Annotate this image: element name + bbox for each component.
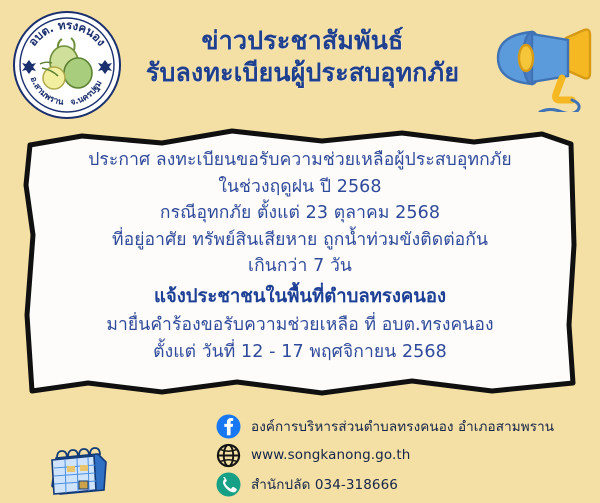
contact-label-facebook: องค์การบริหารส่วนตำบลทรงคนอง อำเภอสามพรา… (251, 415, 554, 437)
facebook-icon[interactable] (216, 414, 241, 439)
globe-icon[interactable] (216, 443, 241, 468)
contact-row-website[interactable]: www.songkanong.go.th (216, 441, 596, 469)
announcement-line: ที่อยู่อาศัย ทรัพย์สินเสียหาย ถูกน้ำท่วม… (50, 227, 550, 254)
contact-label-website: www.songkanong.go.th (251, 447, 410, 463)
announcement-line-highlight: แจ้งประชาชนในพื้นที่ตำบลทรงคนอง (50, 280, 550, 312)
megaphone-icon (470, 4, 596, 112)
contact-list: องค์การบริหารส่วนตำบลทรงคนอง อำเภอสามพรา… (216, 412, 596, 499)
organization-logo: อบต. ทรงคนอง อ.สามพราน จ.นครปฐม (12, 10, 122, 120)
announcement-poster: อบต. ทรงคนอง อ.สามพราน จ.นครปฐม ข่าวประช… (0, 0, 600, 503)
announcement-text: ประกาศ ลงทะเบียนขอรับความช่วยเหลือผู้ประ… (50, 147, 550, 379)
page-title: ข่าวประชาสัมพันธ์ รับลงทะเบียนผู้ประสบอุ… (130, 26, 475, 87)
contact-label-phone: สำนักปลัด 034-318666 (251, 473, 398, 495)
phone-icon[interactable] (216, 472, 241, 497)
announcement-line: มายื่นคำร้องขอรับความช่วยเหลือ ที่ อบต.ท… (50, 312, 550, 339)
contact-row-facebook[interactable]: องค์การบริหารส่วนตำบลทรงคนอง อำเภอสามพรา… (216, 412, 596, 440)
announcement-line: ในช่วงฤดูฝน ปี 2568 (50, 174, 550, 201)
header-line-1: ข่าวประชาสัมพันธ์ (130, 26, 475, 56)
announcement-card: ประกาศ ลงทะเบียนขอรับความช่วยเหลือผู้ประ… (22, 125, 578, 397)
contact-row-phone[interactable]: สำนักปลัด 034-318666 (216, 470, 596, 498)
header-line-2: รับลงทะเบียนผู้ประสบอุทกภัย (130, 58, 475, 88)
announcement-line: ตั้งแต่ วันที่ 12 - 17 พฤศจิกายน 2568 (50, 339, 550, 366)
announcement-line: ประกาศ ลงทะเบียนขอรับความช่วยเหลือผู้ประ… (50, 147, 550, 174)
calendar-illustration (46, 446, 112, 498)
announcement-line: กรณีอุทกภัย ตั้งแต่ 23 ตุลาคม 2568 (50, 200, 550, 227)
announcement-line: เกินกว่า 7 วัน (50, 253, 550, 280)
